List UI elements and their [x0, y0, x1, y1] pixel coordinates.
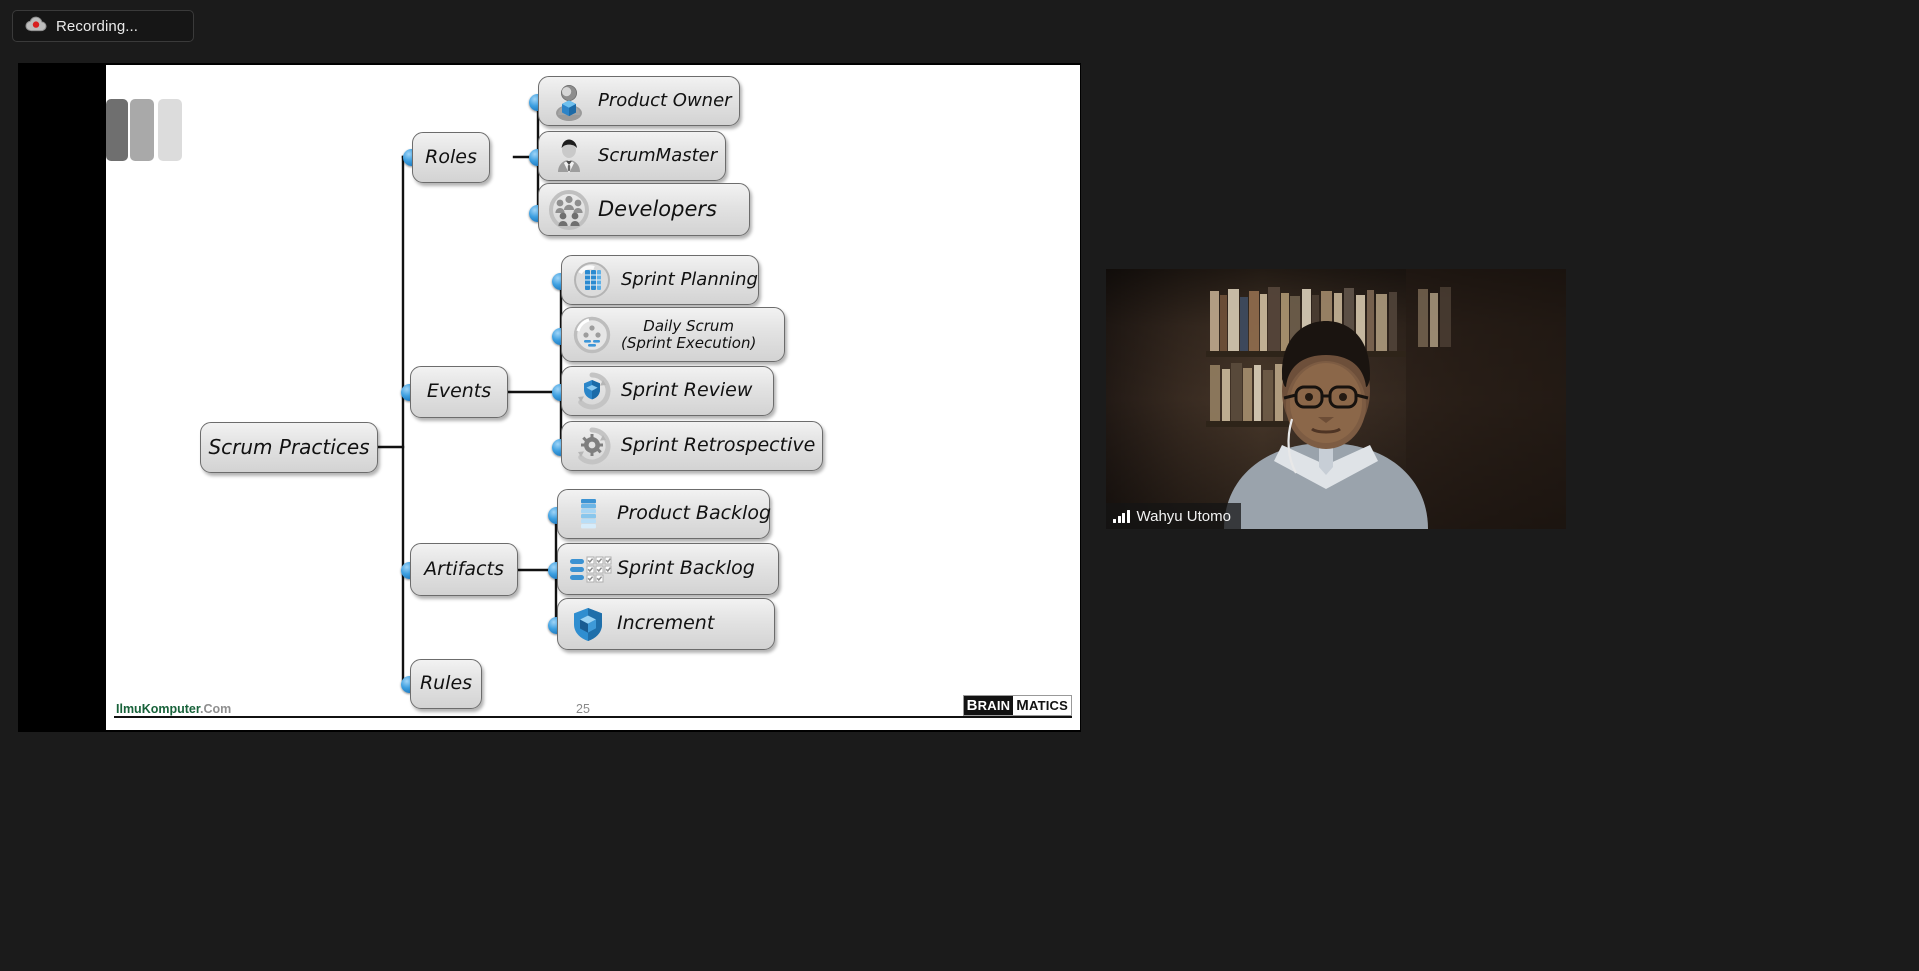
mindmap-node-product-owner[interactable]: Product Owner: [538, 76, 740, 126]
daily-scrum-cycle-icon: [572, 315, 612, 355]
participant-name: Wahyu Utomo: [1137, 508, 1231, 525]
presentation-slide: Scrum Practices Roles: [106, 65, 1080, 730]
mindmap-node-scrummaster[interactable]: ScrumMaster: [538, 131, 726, 181]
shared-screen-stage: Scrum Practices Roles: [18, 63, 1081, 732]
team-group-icon: [549, 190, 589, 230]
node-label: Product Owner: [598, 91, 732, 111]
inspect-adapt-shield-icon: [572, 371, 612, 411]
mindmap-node-root[interactable]: Scrum Practices: [200, 422, 378, 473]
mindmap-node-increment[interactable]: Increment: [557, 598, 775, 650]
person-with-cube-icon: [549, 81, 589, 121]
mindmap-node-product-backlog[interactable]: Product Backlog: [557, 489, 770, 539]
node-label: Artifacts: [424, 559, 504, 580]
recording-indicator[interactable]: Recording...: [12, 10, 194, 42]
node-label: Daily Scrum (Sprint Execution): [621, 318, 756, 352]
node-label: Scrum Practices: [208, 436, 369, 458]
mindmap-node-artifacts[interactable]: Artifacts: [410, 543, 518, 596]
mindmap-node-sprint-retrospective[interactable]: Sprint Retrospective: [561, 421, 823, 471]
stacked-layers-icon: [568, 494, 608, 534]
inspect-adapt-gear-icon: [572, 426, 612, 466]
logo-light-part: MATICS: [1013, 696, 1071, 715]
mindmap-node-sprint-review[interactable]: Sprint Review: [561, 366, 774, 416]
node-label: Events: [427, 381, 491, 402]
node-label: Rules: [420, 673, 472, 694]
recording-cloud-icon: [25, 16, 47, 37]
mindmap-node-daily-scrum[interactable]: Daily Scrum (Sprint Execution): [561, 307, 785, 362]
participant-video-tile[interactable]: Wahyu Utomo: [1106, 269, 1566, 529]
participant-name-bar: Wahyu Utomo: [1106, 503, 1241, 529]
mindmap-node-rules[interactable]: Rules: [410, 659, 482, 709]
node-label: Increment: [617, 613, 714, 634]
node-label-line1: Daily Scrum: [643, 317, 734, 335]
backlog-checklist-icon: [568, 549, 608, 589]
node-label: ScrumMaster: [598, 146, 717, 166]
node-label: Developers: [598, 198, 717, 222]
node-label: Product Backlog: [617, 503, 771, 524]
cube-shield-icon: [568, 604, 608, 644]
mindmap: Scrum Practices Roles: [106, 65, 1080, 730]
node-label: Roles: [425, 147, 477, 168]
signal-bars-icon: [1113, 510, 1130, 523]
planning-grid-icon: [572, 260, 612, 300]
node-label: Sprint Backlog: [617, 558, 755, 579]
mindmap-node-sprint-planning[interactable]: Sprint Planning: [561, 255, 759, 305]
footer-divider: [114, 716, 1072, 718]
person-suit-icon: [549, 136, 589, 176]
mindmap-node-events[interactable]: Events: [410, 366, 508, 418]
recording-label: Recording...: [56, 18, 138, 35]
mindmap-node-developers[interactable]: Developers: [538, 183, 750, 236]
participant-video-image: [1106, 269, 1566, 529]
node-label: Sprint Retrospective: [621, 435, 815, 456]
logo-dark-part: BRAIN: [964, 696, 1014, 715]
footer-brand-suffix: .Com: [200, 702, 231, 716]
node-label: Sprint Planning: [621, 270, 758, 290]
slide-page-number: 25: [576, 702, 590, 716]
mindmap-node-sprint-backlog[interactable]: Sprint Backlog: [557, 543, 779, 595]
footer-brand: IlmuKomputer.Com: [116, 702, 231, 716]
node-label: Sprint Review: [621, 380, 752, 401]
footer-brand-primary: IlmuKomputer: [116, 702, 200, 716]
meeting-screen: Recording...: [0, 0, 1919, 971]
node-label-line2: (Sprint Execution): [621, 334, 756, 352]
brainmatics-logo: BRAIN MATICS: [963, 695, 1072, 716]
mindmap-node-roles[interactable]: Roles: [412, 132, 490, 183]
